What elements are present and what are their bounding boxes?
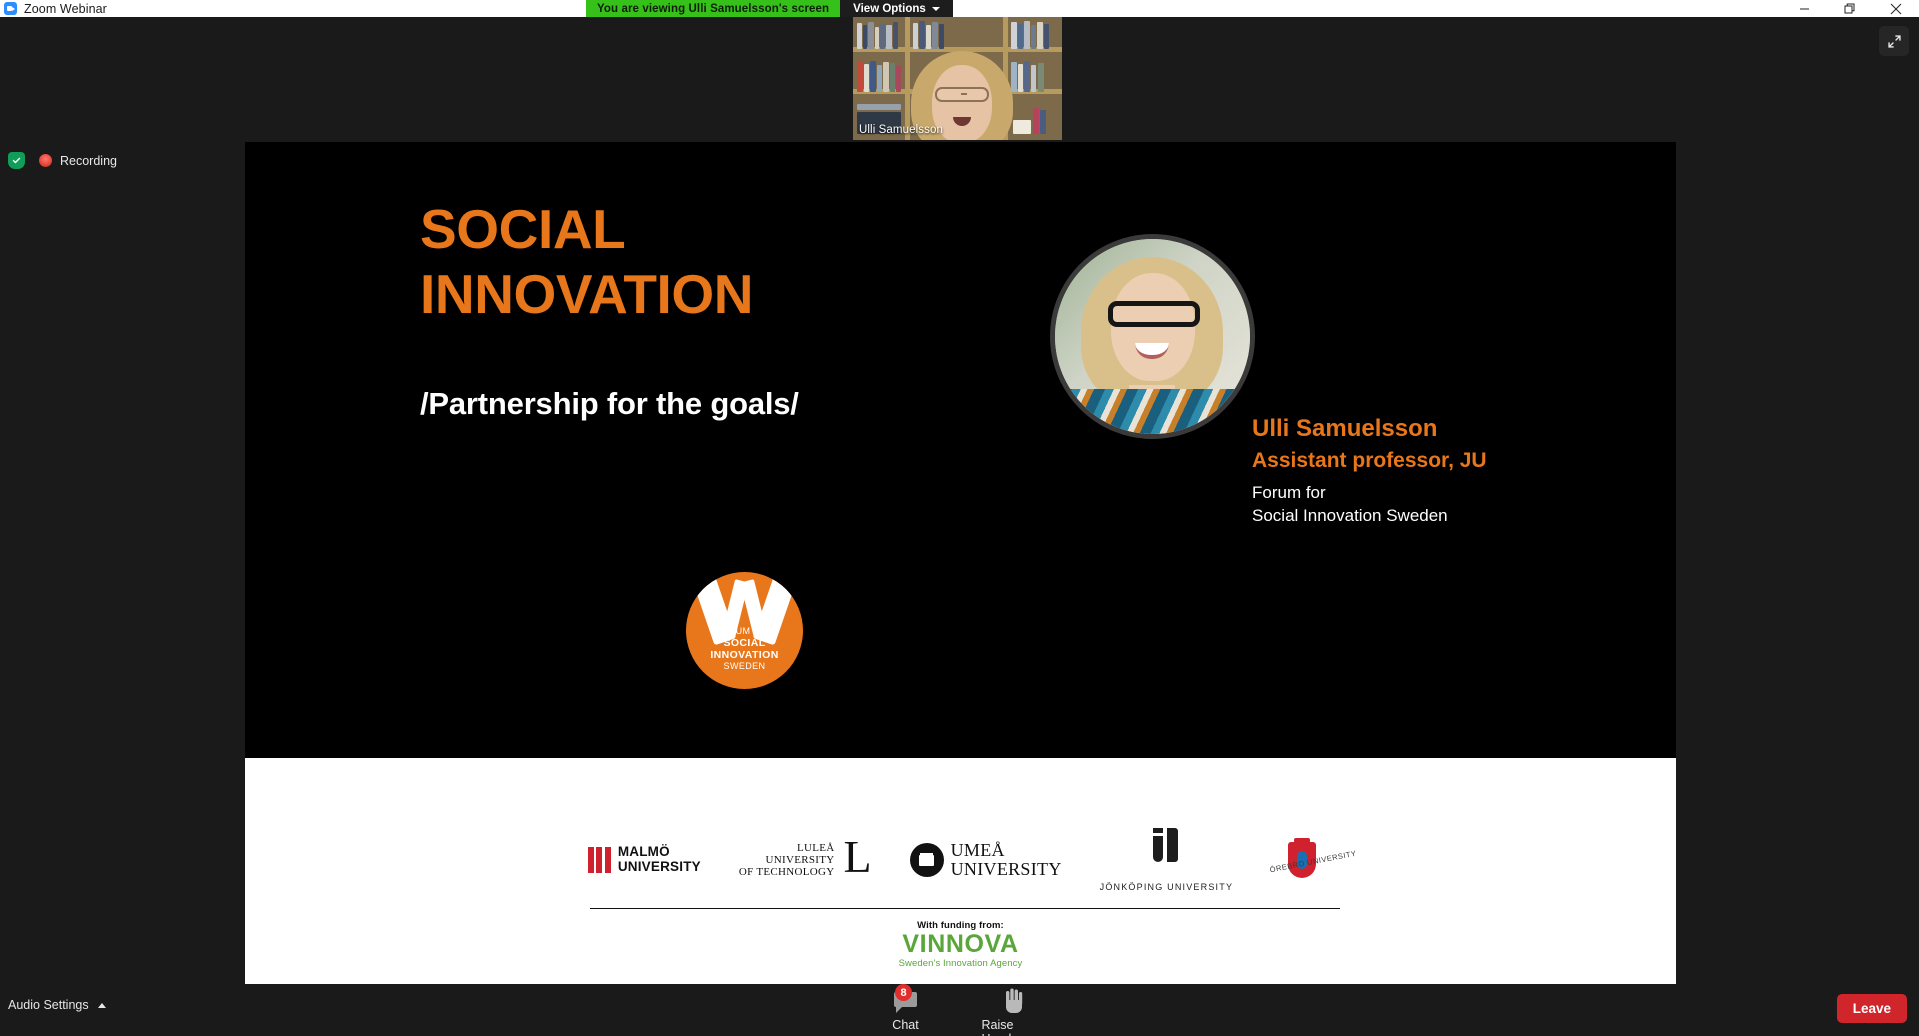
speaker-details: Ulli Samuelsson Assistant professor, JU … <box>1252 417 1487 528</box>
window-title: Zoom Webinar <box>24 2 107 16</box>
chat-unread-badge: 8 <box>895 984 912 1001</box>
university-logos: MALMÖ UNIVERSITY LULEÅ UNIVERSITY OF TEC… <box>245 828 1676 892</box>
slide-title: SOCIAL INNOVATION <box>420 197 753 327</box>
speaker-name: Ulli Samuelsson <box>1252 417 1487 441</box>
forum-logo-line4: SWEDEN <box>686 661 803 672</box>
audio-settings-button[interactable]: Audio Settings <box>8 998 106 1012</box>
close-icon[interactable] <box>1873 0 1919 17</box>
chat-button[interactable]: 8 Chat <box>874 987 938 1036</box>
umea-line1: UMEÅ <box>951 841 1062 860</box>
funding-block: With funding from: VINNOVA Sweden's Inno… <box>245 920 1676 969</box>
umea-seal-icon <box>910 843 944 877</box>
speaker-role: Assistant professor, JU <box>1252 450 1487 471</box>
vinnova-wordmark: VINNOVA <box>245 931 1676 958</box>
viewing-screen-label: You are viewing Ulli Samuelsson's screen <box>586 0 840 17</box>
restore-icon[interactable] <box>1827 0 1873 17</box>
slide-title-line2: INNOVATION <box>420 262 753 327</box>
malmo-line2: UNIVERSITY <box>618 860 701 875</box>
umea-line2: UNIVERSITY <box>951 860 1062 879</box>
raised-hand-icon <box>1003 987 1025 1014</box>
malmo-line1: MALMÖ <box>618 845 701 860</box>
status-indicators: Recording <box>8 152 117 169</box>
umea-university-logo: UMEÅ UNIVERSITY <box>910 841 1062 878</box>
view-options-label: View Options <box>853 3 926 15</box>
raise-hand-label: Raise Hand <box>982 1018 1046 1036</box>
title-bar: Zoom Webinar <box>0 0 1919 17</box>
slide-title-line1: SOCIAL <box>420 197 753 262</box>
window-controls <box>1781 0 1919 17</box>
orebro-university-logo: ÖREBRO UNIVERSITY <box>1271 837 1333 883</box>
jonkoping-label: JÖNKÖPING UNIVERSITY <box>1100 882 1234 892</box>
forum-logo-line2: SOCIAL <box>686 637 803 649</box>
jonkoping-university-logo: JÖNKÖPING UNIVERSITY <box>1100 828 1234 892</box>
jonkoping-j-icon <box>1153 828 1179 862</box>
speaker-org-line2: Social Innovation Sweden <box>1252 505 1487 528</box>
lulea-l-mark: L <box>844 839 872 876</box>
chat-label: Chat <box>892 1018 918 1032</box>
expand-arrows-icon[interactable] <box>1879 26 1909 56</box>
lulea-university-logo: LULEÅ UNIVERSITY OF TECHNOLOGY L <box>739 842 872 879</box>
shared-screen-slide[interactable]: SOCIAL INNOVATION /Partnership for the g… <box>245 142 1676 984</box>
chevron-up-icon[interactable] <box>98 1003 106 1008</box>
audio-settings-label: Audio Settings <box>8 998 89 1012</box>
toolbar-center-items: 8 Chat Raise Hand <box>874 987 1046 1036</box>
lulea-line1: LULEÅ <box>739 842 835 854</box>
chat-bubble-icon: 8 <box>893 987 918 1014</box>
raise-hand-button[interactable]: Raise Hand <box>982 987 1046 1036</box>
speaker-org-line1: Forum for <box>1252 482 1487 505</box>
forum-logo-line1: FORUM FOR <box>686 626 803 637</box>
leave-button[interactable]: Leave <box>1837 994 1907 1023</box>
malmo-bars-icon <box>588 847 611 873</box>
zoom-camera-icon <box>4 2 17 15</box>
view-options-button[interactable]: View Options <box>840 0 953 17</box>
thumbnail-name-label: Ulli Samuelsson <box>859 124 943 136</box>
chevron-down-icon <box>932 7 940 11</box>
forum-social-innovation-logo: FORUM FOR SOCIAL INNOVATION SWEDEN <box>686 572 803 689</box>
lulea-line2: UNIVERSITY <box>739 854 835 866</box>
screen-share-banner: You are viewing Ulli Samuelsson's screen… <box>586 0 953 17</box>
recording-dot-icon <box>39 154 52 167</box>
shield-check-icon[interactable] <box>8 152 25 169</box>
recording-label: Recording <box>60 154 117 168</box>
divider-line <box>590 908 1340 909</box>
participant-video-thumbnail[interactable]: Ulli Samuelsson <box>853 17 1062 140</box>
malmo-university-logo: MALMÖ UNIVERSITY <box>588 845 701 874</box>
lulea-line3: OF TECHNOLOGY <box>739 866 835 878</box>
slide-subtitle: /Partnership for the goals/ <box>420 386 799 422</box>
minimize-icon[interactable] <box>1781 0 1827 17</box>
forum-logo-line3: INNOVATION <box>686 649 803 661</box>
vinnova-tagline: Sweden's Innovation Agency <box>245 958 1676 969</box>
speaker-portrait <box>1050 234 1255 439</box>
meeting-toolbar: Audio Settings 8 Chat <box>0 984 1919 1036</box>
zoom-webinar-window: Zoom Webinar You are viewing Ulli Samuel… <box>0 0 1919 1036</box>
